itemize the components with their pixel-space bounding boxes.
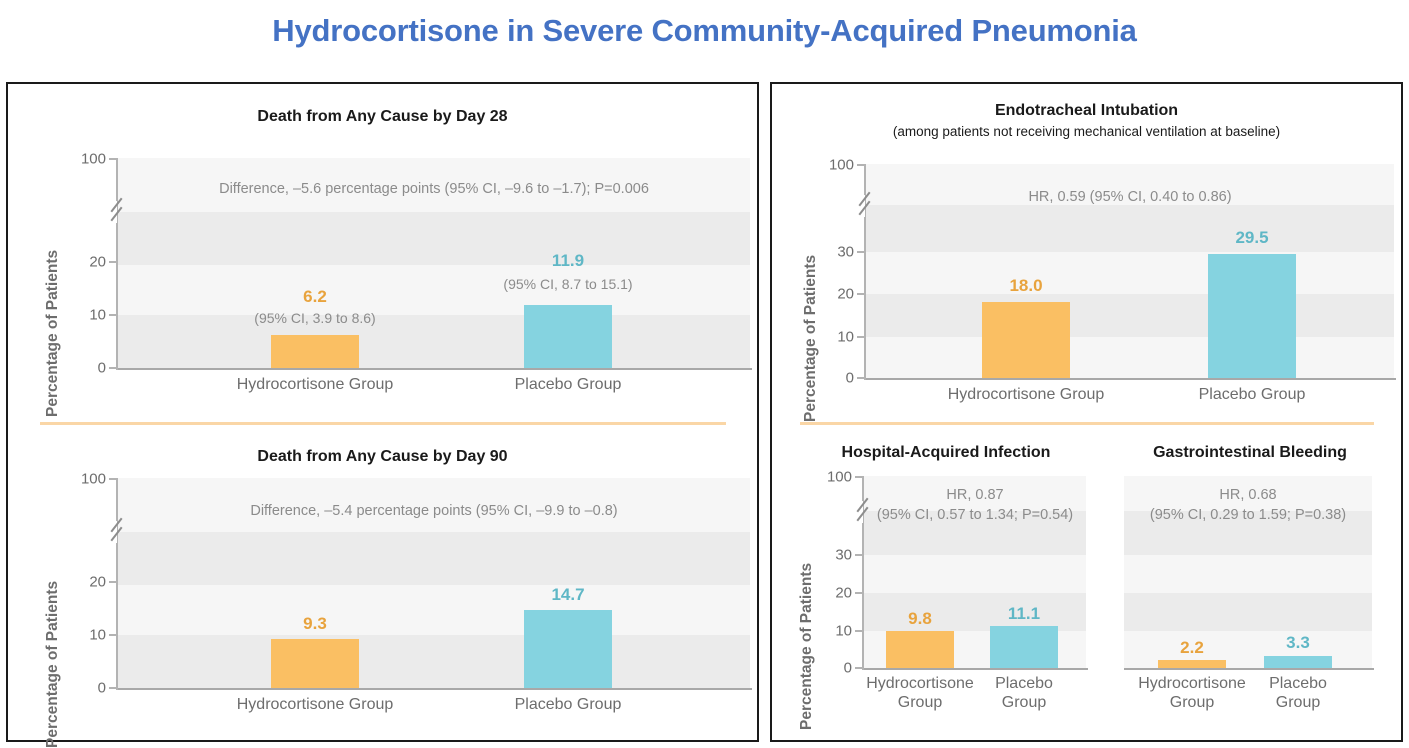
band [866, 205, 1394, 252]
y-tick [109, 478, 116, 480]
x-label-line-1: Placebo [949, 674, 1099, 693]
y-tick-label: 30 [798, 547, 852, 564]
annotation-line-2: (95% CI, 0.29 to 1.59; P=0.38) [1124, 506, 1372, 526]
x-label-hydrocortisone: Hydrocortisone Group [237, 695, 394, 714]
bar-ci-placebo: (95% CI, 8.7 to 15.1) [503, 276, 632, 292]
band [866, 294, 1394, 337]
bar-value-placebo: 11.1 [1008, 604, 1040, 624]
bar-placebo [1208, 254, 1296, 378]
y-tick [857, 164, 864, 166]
y-tick [109, 261, 116, 263]
band [118, 212, 750, 265]
bar-value-hydrocortisone: 18.0 [1009, 276, 1042, 296]
plot-area: Difference, –5.4 percentage points (95% … [118, 478, 750, 688]
annotation-line-2: (95% CI, 0.57 to 1.34; P=0.54) [864, 506, 1086, 526]
band [118, 532, 750, 585]
y-tick-label: 100 [798, 469, 852, 486]
y-tick [109, 581, 116, 583]
x-axis-line [118, 688, 752, 690]
chart-subtitle: (among patients not receiving mechanical… [770, 124, 1403, 139]
y-tick-label: 20 [800, 286, 854, 303]
axis-break-icon [105, 522, 127, 542]
bar-value-placebo: 11.9 [552, 251, 584, 271]
x-label-placebo: Placebo Group [949, 674, 1099, 712]
bar-placebo [524, 610, 612, 688]
y-tick [109, 158, 116, 160]
y-tick [855, 476, 862, 478]
x-label-hydrocortisone: Hydrocortisone Group [237, 375, 394, 394]
x-label-placebo: Placebo Group [1223, 674, 1373, 712]
y-tick-label: 0 [50, 360, 106, 377]
plot-area: HR, 0.87 (95% CI, 0.57 to 1.34; P=0.54) … [864, 476, 1086, 668]
band [866, 252, 1394, 294]
y-tick-label: 0 [50, 680, 106, 697]
bar-value-hydrocortisone: 9.3 [303, 614, 327, 634]
chart-death-day-28: Death from Any Cause by Day 28 Percentag… [6, 82, 759, 412]
x-axis-line [118, 368, 752, 370]
y-tick-label: 10 [798, 623, 852, 640]
chart-title: Hospital-Acquired Infection [796, 444, 1096, 462]
y-tick-label: 100 [800, 157, 854, 174]
y-tick-label: 100 [50, 471, 106, 488]
chart-title: Gastrointestinal Bleeding [1110, 444, 1390, 462]
axis-break-icon [105, 202, 127, 222]
bar-placebo [990, 626, 1058, 668]
annotation-line-1: HR, 0.87 [864, 486, 1086, 506]
x-label-placebo: Placebo Group [515, 695, 622, 714]
y-tick [855, 667, 862, 669]
bar-hydrocortisone [982, 302, 1070, 378]
y-axis-label: Percentage of Patients [44, 250, 62, 417]
bar-hydrocortisone [886, 631, 954, 668]
band [1124, 555, 1372, 593]
annotation-text: HR, 0.87 (95% CI, 0.57 to 1.34; P=0.54) [864, 486, 1086, 525]
bar-value-hydrocortisone: 6.2 [303, 287, 327, 307]
y-tick-label: 0 [800, 370, 854, 387]
band [118, 635, 750, 688]
bar-placebo [1264, 656, 1332, 668]
band [1124, 593, 1372, 631]
annotation-line-1: HR, 0.68 [1124, 486, 1372, 506]
bar-value-hydrocortisone: 2.2 [1180, 638, 1204, 658]
plot-area: HR, 0.68 (95% CI, 0.29 to 1.59; P=0.38) … [1124, 476, 1372, 668]
plot-area: Difference, –5.6 percentage points (95% … [118, 158, 750, 368]
annotation-text: HR, 0.68 (95% CI, 0.29 to 1.59; P=0.38) [1124, 486, 1372, 525]
bar-ci-hydrocortisone: (95% CI, 3.9 to 8.6) [254, 310, 375, 326]
bar-value-placebo: 3.3 [1286, 633, 1310, 653]
band [118, 585, 750, 635]
band [118, 315, 750, 368]
axis-break-icon [853, 196, 875, 216]
y-tick-label: 0 [798, 660, 852, 677]
chart-hospital-acquired-infection: Hospital-Acquired Infection Percentage o… [770, 436, 1100, 742]
y-axis-label: Percentage of Patients [44, 581, 62, 748]
y-tick-label: 20 [50, 254, 106, 271]
panel-divider-right [800, 422, 1374, 425]
y-tick [857, 251, 864, 253]
chart-gastrointestinal-bleeding: Gastrointestinal Bleeding HR, 0.68 (95% … [1100, 436, 1403, 742]
bar-hydrocortisone [271, 639, 359, 688]
band [864, 555, 1086, 593]
chart-endotracheal-intubation: Endotracheal Intubation (among patients … [770, 82, 1403, 412]
y-tick-label: 20 [50, 574, 106, 591]
bar-value-hydrocortisone: 9.8 [908, 609, 932, 629]
y-tick-label: 10 [50, 627, 106, 644]
y-tick [109, 367, 116, 369]
y-tick [855, 554, 862, 556]
chart-title: Death from Any Cause by Day 28 [6, 108, 759, 126]
bar-hydrocortisone [271, 335, 359, 368]
y-tick [855, 630, 862, 632]
x-label-placebo: Placebo Group [1199, 385, 1306, 404]
y-tick-label: 10 [50, 307, 106, 324]
y-tick [109, 687, 116, 689]
x-label-placebo: Placebo Group [515, 375, 622, 394]
y-tick [857, 336, 864, 338]
y-tick [857, 377, 864, 379]
y-tick [109, 314, 116, 316]
bar-value-placebo: 29.5 [1235, 228, 1268, 248]
x-label-line-2: Group [949, 693, 1099, 712]
y-tick-label: 100 [50, 151, 106, 168]
y-tick [109, 634, 116, 636]
y-axis-line [116, 158, 118, 370]
bar-hydrocortisone [1158, 660, 1226, 668]
page-title: Hydrocortisone in Severe Community-Acqui… [0, 0, 1409, 62]
x-axis-line [866, 378, 1396, 380]
annotation-text: Difference, –5.6 percentage points (95% … [118, 180, 750, 200]
annotation-text: HR, 0.59 (95% CI, 0.40 to 0.86) [866, 188, 1394, 208]
chart-title: Endotracheal Intubation [770, 102, 1403, 120]
bar-placebo [524, 305, 612, 368]
bar-value-placebo: 14.7 [551, 585, 584, 605]
x-axis-line [1124, 668, 1374, 670]
y-tick-label: 20 [798, 585, 852, 602]
y-tick [855, 592, 862, 594]
y-axis-line [116, 478, 118, 690]
band [866, 337, 1394, 378]
axis-break-icon [851, 502, 873, 522]
x-label-line-2: Group [1223, 693, 1373, 712]
y-tick [857, 293, 864, 295]
annotation-text: Difference, –5.4 percentage points (95% … [118, 502, 750, 522]
panel-divider-left [40, 422, 726, 425]
band [118, 265, 750, 315]
x-label-hydrocortisone: Hydrocortisone Group [948, 385, 1105, 404]
x-axis-line [864, 668, 1088, 670]
chart-title: Death from Any Cause by Day 90 [6, 448, 759, 466]
y-tick-label: 10 [800, 329, 854, 346]
y-tick-label: 30 [800, 244, 854, 261]
x-label-line-1: Placebo [1223, 674, 1373, 693]
plot-area: HR, 0.59 (95% CI, 0.40 to 0.86) 18.0 29.… [866, 164, 1394, 378]
chart-death-day-90: Death from Any Cause by Day 90 Percentag… [6, 436, 759, 742]
